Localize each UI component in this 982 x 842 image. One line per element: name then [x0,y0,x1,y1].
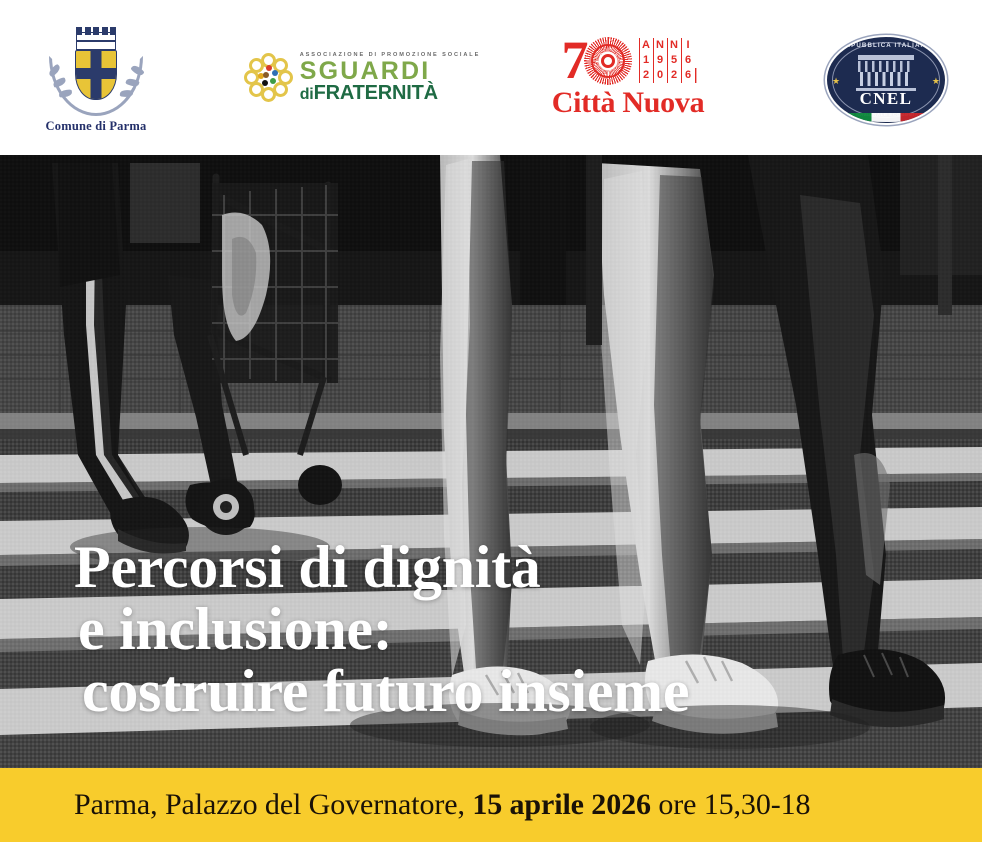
event-details-text: Parma, Palazzo del Governatore, 15 april… [0,788,810,822]
citta-nuova-wordmark: Città Nuova [552,86,705,120]
logo-comune-di-parma: Comune di Parma [28,26,164,138]
citta-nuova-sunburst-icon [584,37,632,85]
title-line-3: costruire futuro insieme [74,660,982,722]
grid-cell: A [639,38,653,53]
sguardi-di-prefix: di [300,86,314,103]
star-icon: ★ [932,77,940,86]
grid-cell: 5 [667,53,681,68]
logo-citta-nuova: 7 A N N I 1 9 5 6 2 0 [548,34,708,122]
shield-icon [75,50,117,100]
anniversary-grid: A N N I 1 9 5 6 2 0 2 6 [639,38,695,83]
grid-cell: 6 [681,53,695,68]
title-line-2: e inclusione: [74,598,982,660]
classical-building-icon [858,55,914,89]
logo-caption-comune-di-parma: Comune di Parma [46,119,147,134]
cnel-arc-top: REPUBBLICA ITALIANA [840,42,931,49]
event-time: ore 15,30-18 [658,788,810,821]
sguardi-wordmark-top: SGUARDI [300,59,481,83]
grid-cell: 1 [639,53,653,68]
sguardi-wordmark-bottom: diFRATERNITÀ [300,83,481,103]
logo-sguardi-di-fraternita: ASSOCIAZIONE DI PROMOZIONE SOCIALE SGUAR… [278,46,446,110]
logo-cnel: REPUBBLICA ITALIANA ★ ★ CNEL CONSIGLIO N… [818,34,954,126]
numeral-seven: 7 [562,38,586,82]
grid-cell: I [681,38,695,53]
cnel-acronym: CNEL [860,89,913,109]
event-details-bar: Parma, Palazzo del Governatore, 15 april… [0,768,982,842]
grid-cell: 0 [653,68,667,83]
event-date: 15 aprile 2026 [472,788,651,821]
sguardi-flower-icon [244,53,294,103]
grid-cell: 6 [681,68,695,83]
star-icon: ★ [832,77,840,86]
italian-tricolor-icon [843,113,929,122]
parma-shield-crest-icon [50,30,142,114]
sponsor-logo-band: Comune di Parma [0,0,982,155]
citta-nuova-70-numeral: 7 [562,37,632,85]
sguardi-fraternita-word: FRATERNITÀ [314,82,438,104]
grid-cell: N [653,38,667,53]
event-venue: Parma, Palazzo del Governatore, [74,788,465,821]
title-line-1: Percorsi di dignità [74,536,982,598]
grid-cell: 2 [667,68,681,83]
grid-cell: 2 [639,68,653,83]
grid-cell: 9 [653,53,667,68]
event-poster: Comune di Parma [0,0,982,842]
mural-crown-icon [76,32,116,50]
cnel-seal-icon: REPUBBLICA ITALIANA ★ ★ CNEL CONSIGLIO N… [825,35,947,125]
grid-cell: N [667,38,681,53]
poster-title: Percorsi di dignità e inclusione: costru… [0,536,982,722]
